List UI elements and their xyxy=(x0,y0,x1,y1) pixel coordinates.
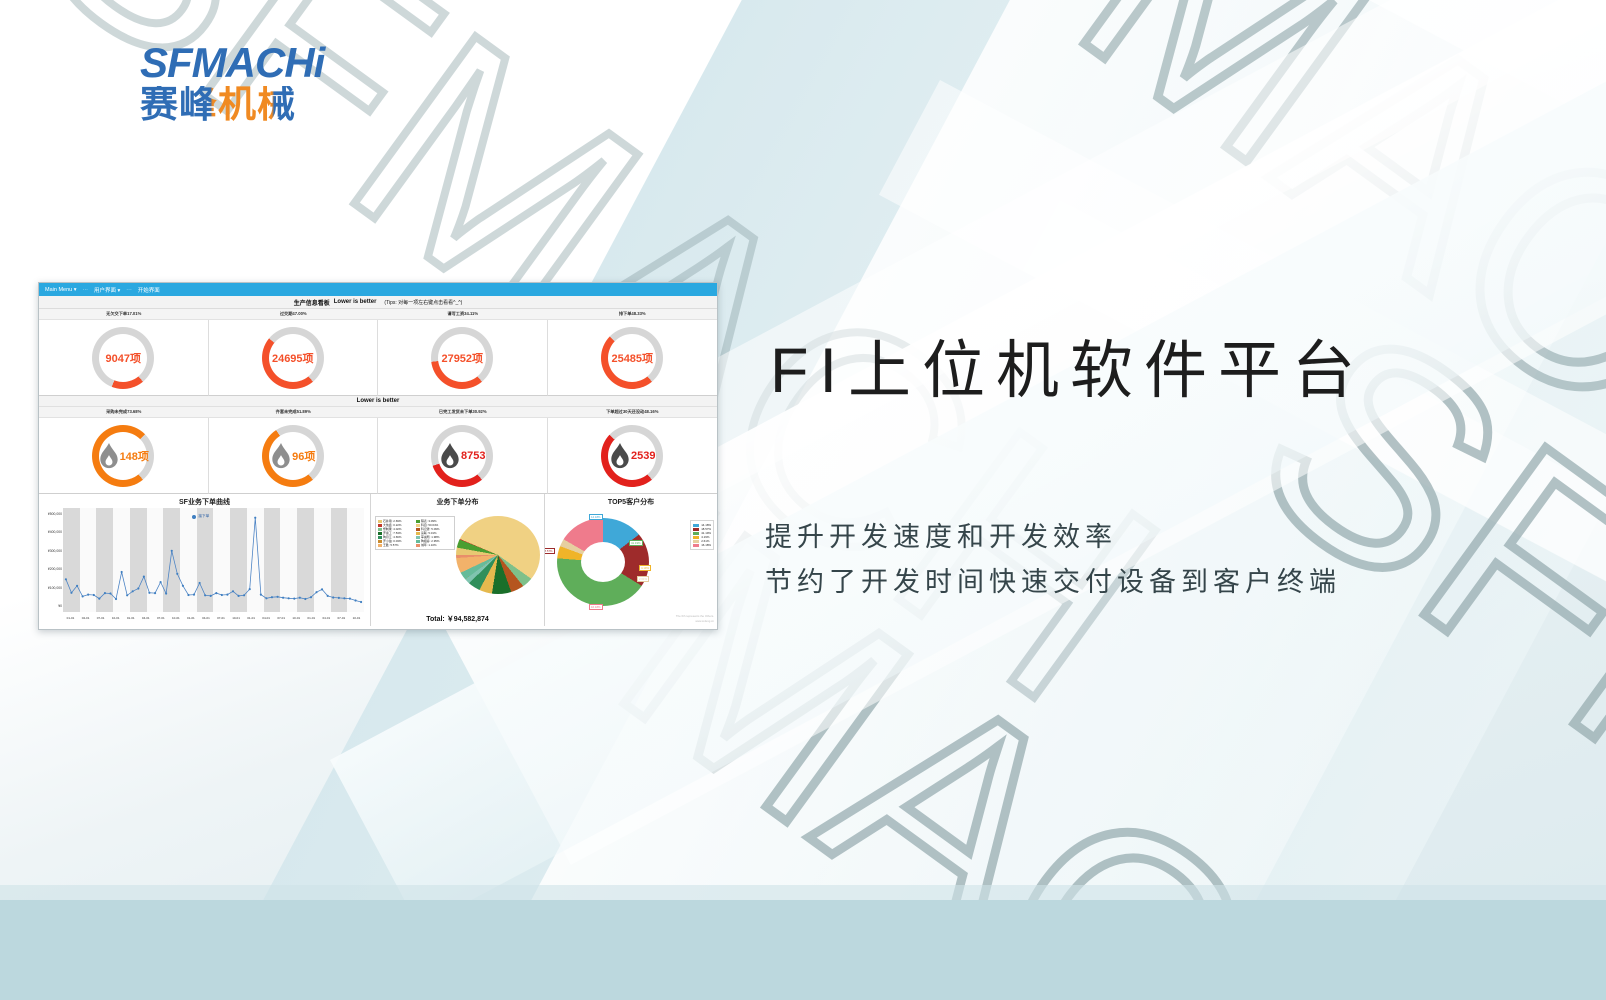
donut-legend-item: 16.18% xyxy=(693,543,711,547)
line-chart-title: SF业务下单曲线 xyxy=(43,497,366,507)
flame-icon-2 xyxy=(270,443,292,469)
bottom-accent-strip xyxy=(0,885,1606,901)
gauge-ring-5: 148项 xyxy=(92,425,154,487)
charts-row: SF业务下单曲线 ¥0¥100,000¥200,000¥300,000¥400,… xyxy=(39,494,717,626)
subtitle-line-1: 提升开发速度和开发效率 xyxy=(765,515,1341,560)
donut-chart-title: TOP5客户分布 xyxy=(549,497,713,507)
kpi-row1-labels: 无欠交下单17.01% 过交期47.00% 请写工资34.11% 排下单48.3… xyxy=(39,309,717,320)
line-chart-panel[interactable]: SF业务下单曲线 ¥0¥100,000¥200,000¥300,000¥400,… xyxy=(39,494,371,626)
gauge-value-8: 2539 xyxy=(631,450,655,462)
page-subtitle: 提升开发速度和开发效率 节约了开发时间快速交付设备到客户终端 xyxy=(765,515,1341,604)
logo-wordmark-text: SFMACHi xyxy=(140,39,324,86)
kpi-card-7[interactable]: 8753 xyxy=(378,418,548,494)
flame-icon-1 xyxy=(98,443,120,469)
donut-callout-4: 4.19% xyxy=(639,565,651,571)
flame-icon-4 xyxy=(609,443,631,469)
line-chart-plot: ¥0¥100,000¥200,000¥300,000¥400,000¥500,0… xyxy=(63,508,364,612)
y-axis-ticks: ¥0¥100,000¥200,000¥300,000¥400,000¥500,0… xyxy=(42,508,63,612)
kpi-label-7: 已完工发货未下单30.92% xyxy=(378,407,548,417)
kpi-label-4: 排下单48.33% xyxy=(548,309,718,319)
pie-chart-graphic xyxy=(456,516,540,594)
kpi-label-3: 请写工资34.11% xyxy=(378,309,548,319)
donut-footnote: The 6th represents the Others. xyxy=(676,614,714,618)
menu-item-main-menu[interactable]: Main Menu ▾ xyxy=(45,287,77,293)
gauge-value-5: 148项 xyxy=(120,448,149,464)
menu-separator-1: ··· xyxy=(83,287,89,293)
kpi-label-2: 过交期47.00% xyxy=(209,309,379,319)
kpi-label-5: 采购未完成73.68% xyxy=(39,407,209,417)
donut-callout-1: 14.18% xyxy=(589,514,603,520)
dashboard-header: 生产信息看板 Lower is better (Tips: 对每一项左右键点击看… xyxy=(39,296,717,309)
kpi-label-8: 下单超过30天还没动48.16% xyxy=(548,407,718,417)
line-chart-svg xyxy=(63,508,364,612)
subtitle-line-2: 节约了开发时间快速交付设备到客户终端 xyxy=(765,560,1341,605)
menu-separator-2: ··· xyxy=(126,287,132,293)
gauge-value-2: 24695项 xyxy=(272,350,314,366)
pie-legend-item: 城年: 1.10% xyxy=(416,543,452,547)
gauge-ring-2: 24695项 xyxy=(262,327,324,389)
kpi-card-1[interactable]: 9047项 xyxy=(39,320,209,396)
pie-chart-panel[interactable]: 业务下单分布 石井用: 2.69%程表: 3.09%大信盛: 0.22%科自: … xyxy=(371,494,545,626)
pie-total: Total: ￥94,582,874 xyxy=(371,614,544,624)
pie-legend-item: 王胜: 5.57% xyxy=(378,543,414,547)
dashboard-tips: (Tips: 对每一项左右键点击看看^_^) xyxy=(384,299,462,306)
pie-total-value: ￥94,582,874 xyxy=(447,616,489,623)
gauge-value-4: 25485项 xyxy=(611,350,653,366)
kpi-row2-labels: 采购未完成73.68% 齐套未完成51.89% 已完工发货未下单30.92% 下… xyxy=(39,407,717,418)
donut-hole xyxy=(581,542,625,582)
x-axis-ticks: 01-0104-0107-0110-0101-0104-0107-0110-01… xyxy=(63,616,364,620)
kpi-card-8[interactable]: 2539 xyxy=(548,418,718,494)
donut-chart-legend: 14.18%18.57%41.19%4.19%2.61%16.18% xyxy=(690,520,714,550)
pie-chart-title: 业务下单分布 xyxy=(375,497,540,507)
gauge-ring-6: 96项 xyxy=(262,425,324,487)
page-title: FI上位机软件平台 xyxy=(770,320,1366,411)
kpi-row-1: 9047项 24695项 27952项 25485项 xyxy=(39,320,717,396)
menu-item-start-ui[interactable]: 开始界面 xyxy=(138,286,160,294)
donut-chart-graphic: 14.18% 18.57% 41.19% 4.19% 2.61% 16.18% xyxy=(557,518,649,606)
donut-callout-2: 18.57% xyxy=(545,548,555,554)
kpi-label-6: 齐套未完成51.89% xyxy=(209,407,379,417)
app-menubar: Main Menu ▾ ··· 用户界面 ▾ ··· 开始界面 xyxy=(39,283,717,296)
gauge-ring-4: 25485项 xyxy=(601,327,663,389)
logo-wordmark: SFMACHi xyxy=(140,42,360,84)
bottom-bar xyxy=(0,900,1606,1000)
kpi-card-2[interactable]: 24695项 xyxy=(209,320,379,396)
legend-label: 接下单 xyxy=(198,514,209,519)
gauge-ring-7: 8753 xyxy=(431,425,493,487)
donut-chart-panel[interactable]: TOP5客户分布 14.18% 18.57% 41.19% 4.19% 2.61… xyxy=(545,494,717,626)
gauge-value-7: 8753 xyxy=(461,450,485,462)
gauge-ring-8: 2539 xyxy=(601,425,663,487)
kpi-row-2: 148项 96项 8753 xyxy=(39,418,717,494)
dashboard-title: 生产信息看板 xyxy=(294,298,330,307)
kpi-card-4[interactable]: 25485项 xyxy=(548,320,718,396)
gauge-value-1: 9047项 xyxy=(106,350,141,366)
flame-icon-3 xyxy=(439,443,461,469)
section-subtitle: Lower is better xyxy=(39,396,717,407)
donut-callout-6: 16.18% xyxy=(589,604,603,610)
donut-website: www.sxfeng.cn xyxy=(695,619,714,623)
brand-logo: SFMACHi 赛峰机械 xyxy=(140,42,360,126)
gauge-value-3: 27952项 xyxy=(441,350,483,366)
donut-callout-5: 2.61% xyxy=(637,576,649,582)
kpi-card-5[interactable]: 148项 xyxy=(39,418,209,494)
kpi-card-6[interactable]: 96项 xyxy=(209,418,379,494)
kpi-card-3[interactable]: 27952项 xyxy=(378,320,548,396)
dashboard-screenshot: Main Menu ▾ ··· 用户界面 ▾ ··· 开始界面 生产信息看板 L… xyxy=(38,282,718,630)
gauge-ring-3: 27952项 xyxy=(431,327,493,389)
line-chart-legend: 接下单 xyxy=(192,514,209,519)
menu-item-user-ui[interactable]: 用户界面 ▾ xyxy=(94,286,120,294)
dashboard-subtitle: Lower is better xyxy=(334,299,377,305)
pie-total-label: Total: xyxy=(426,616,445,623)
pie-chart-legend: 石井用: 2.69%程表: 3.09%大信盛: 0.22%科自: 50.64%塑… xyxy=(375,516,455,550)
poster-canvas: SFMACH SFMACH SFMACH SFMACH SFMACHi 赛峰机械… xyxy=(0,0,1606,1000)
gauge-value-6: 96项 xyxy=(292,448,315,464)
kpi-label-1: 无欠交下单17.01% xyxy=(39,309,209,319)
gauge-ring-1: 9047项 xyxy=(92,327,154,389)
logo-chinese-name: 赛峰机械 xyxy=(140,86,360,126)
donut-callout-3: 41.19% xyxy=(629,540,643,546)
legend-dot-icon xyxy=(192,515,196,519)
pie-slices xyxy=(456,516,540,594)
